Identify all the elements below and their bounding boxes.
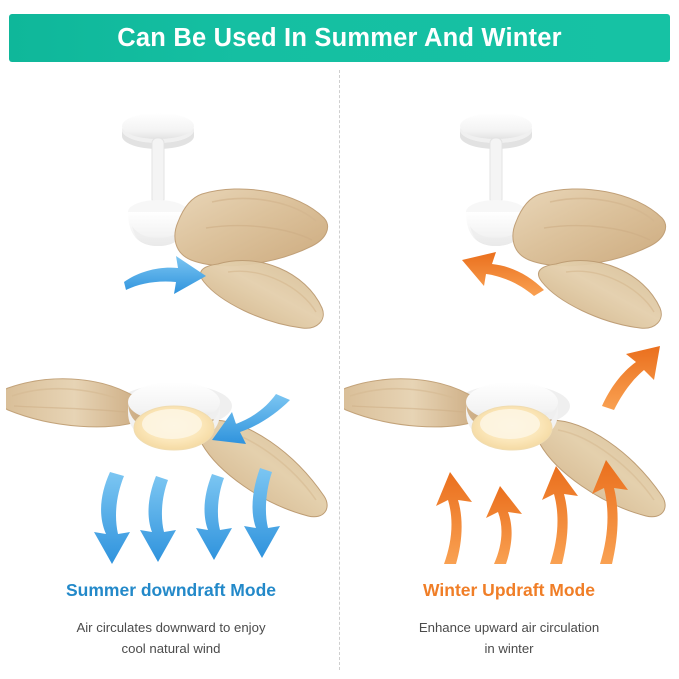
summer-caption-line-1: Air circulates downward to enjoy	[6, 617, 336, 638]
winter-caption-title: Winter Updraft Mode	[344, 580, 674, 601]
summer-panel	[6, 76, 336, 576]
product-infographic: Can Be Used In Summer And Winter	[0, 0, 679, 679]
airflow-arrow-right	[602, 346, 660, 410]
winter-caption: Winter Updraft Mode Enhance upward air c…	[344, 580, 674, 659]
winter-caption-line-1: Enhance upward air circulation	[344, 617, 674, 638]
summer-caption: Summer downdraft Mode Air circulates dow…	[6, 580, 336, 659]
airflow-arrow-top	[124, 256, 206, 294]
summer-caption-title: Summer downdraft Mode	[6, 580, 336, 601]
ceiling-fan-downdraft-illustration	[6, 76, 336, 566]
winter-panel	[344, 76, 674, 576]
panel-divider	[339, 70, 340, 670]
summer-caption-line-2: cool natural wind	[6, 638, 336, 659]
ceiling-fan-updraft-illustration	[344, 76, 674, 566]
winter-caption-line-2: in winter	[344, 638, 674, 659]
page-title: Can Be Used In Summer And Winter	[117, 24, 561, 53]
header-banner: Can Be Used In Summer And Winter	[9, 14, 670, 62]
